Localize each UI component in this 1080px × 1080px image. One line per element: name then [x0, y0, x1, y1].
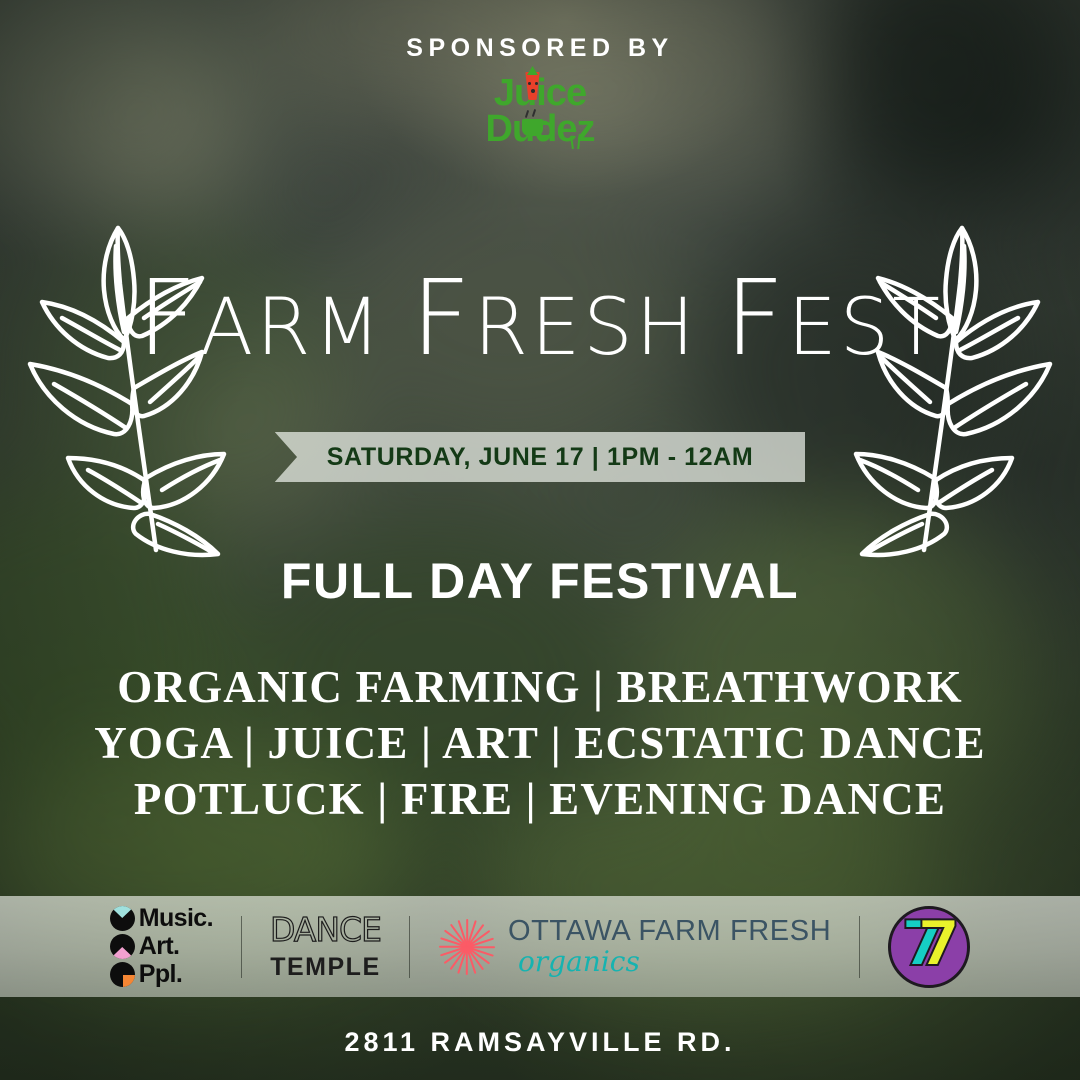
activities-line-1: ORGANIC FARMING | BREATHWORK: [0, 660, 1080, 716]
title-word-1-cap: F: [137, 257, 200, 379]
music-art-ppl-line-3: Ppl.: [139, 962, 182, 987]
sponsor-ottawa-farm-fresh-organics[interactable]: OTTAWA FARM FRESH organics: [438, 896, 831, 997]
activities-line-2: YOGA | JUICE | ART | ECSTATIC DANCE: [0, 716, 1080, 772]
dance-temple-line-1: DANCE: [270, 913, 381, 946]
music-art-ppl-line-1: Music.: [139, 906, 213, 931]
sponsor-divider: [409, 916, 410, 978]
dance-temple-line-2: TEMPLE: [270, 955, 380, 980]
mug-handle-icon: [541, 122, 553, 138]
sponsor-divider: [241, 916, 242, 978]
pink-circle-icon: [110, 934, 135, 959]
title-word-2-rest: RESH: [474, 283, 698, 373]
ribbon-notch-left: [249, 432, 275, 482]
ottawa-farm-fresh-line-1: OTTAWA FARM FRESH: [508, 917, 831, 946]
title-word-1-rest: ARM: [200, 283, 384, 373]
venue-address: 2811 RAMSAYVILLE RD.: [0, 1027, 1080, 1058]
sponsor-music-art-ppl[interactable]: Music. Art. Ppl.: [110, 896, 213, 997]
date-time-text: SATURDAY, JUNE 17 | 1PM - 12AM: [327, 443, 754, 472]
music-art-ppl-line-2: Art.: [139, 934, 180, 959]
coffee-mug-icon: [522, 119, 543, 136]
sponsor-divider: [859, 916, 860, 978]
starburst-icon: [438, 918, 496, 976]
subtitle: FULL DAY FESTIVAL: [0, 552, 1080, 610]
ottawa-farm-fresh-line-2: organics: [518, 948, 831, 976]
activities-line-3: POTLUCK | FIRE | EVENING DANCE: [0, 772, 1080, 828]
seven-numeral-yellow: 7: [917, 913, 960, 975]
orange-circle-icon: [110, 962, 135, 987]
title-word-2-cap: F: [411, 257, 474, 379]
sponsor-dance-temple[interactable]: DANCE TEMPLE: [270, 896, 381, 997]
date-ribbon: SATURDAY, JUNE 17 | 1PM - 12AM: [0, 432, 1080, 482]
activities-list: ORGANIC FARMING | BREATHWORK YOGA | JUIC…: [0, 660, 1080, 827]
carrot-leaf-icon: [527, 66, 538, 75]
juice-dudez-line1: Juice: [465, 74, 615, 112]
sponsor-logo-bar: Music. Art. Ppl. DANCE TEMPLE: [0, 896, 1080, 997]
ribbon-notch-right: [805, 432, 831, 482]
title-word-3-rest: EST: [787, 283, 942, 373]
sponsored-by-label: SPONSORED BY: [0, 34, 1080, 63]
sponsor-seven-logo[interactable]: 7 7: [888, 896, 970, 997]
teal-circle-icon: [110, 906, 135, 931]
seven-circle-icon: 7 7: [888, 906, 970, 988]
juice-dudez-logo: Juice Dudez: [0, 74, 1080, 156]
event-poster: SPONSORED BY Juice Dudez: [0, 0, 1080, 1080]
page-title: FARM FRESH FEST: [0, 253, 1080, 383]
title-word-3-cap: F: [725, 257, 788, 379]
